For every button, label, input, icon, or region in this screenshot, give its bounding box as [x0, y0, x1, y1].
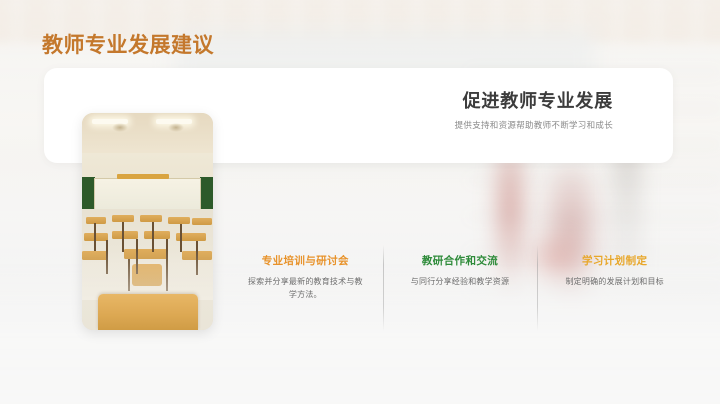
photo-ceiling-fan-1 [112, 123, 128, 132]
hero-heading: 促进教师专业发展 [463, 87, 613, 113]
feature-column-1-title: 专业培训与研讨会 [244, 253, 367, 268]
photo-foreground-desk [98, 294, 198, 330]
feature-column-2-description: 与同行分享经验和教学资源 [399, 275, 522, 288]
photo-desk [86, 217, 106, 224]
slide-canvas: 教师专业发展建议 促进教师专业发展 提供支持和资源帮助教师不断学习和成长 [0, 0, 720, 404]
photo-desk-leg [152, 222, 154, 252]
photo-desk [84, 233, 108, 241]
feature-column-3: 学习计划制定 制定明确的发展计划和目标 [537, 243, 692, 333]
photo-ceiling-fan-2 [168, 123, 184, 132]
photo-desk [192, 218, 212, 225]
photo-desk-leg [122, 222, 124, 252]
photo-whiteboard [94, 178, 201, 210]
page-title: 教师专业发展建议 [42, 29, 214, 59]
photo-desk-leg [94, 223, 96, 251]
feature-columns: 专业培训与研讨会 探索并分享最新的教育技术与教学方法。 教研合作和交流 与同行分… [228, 243, 692, 333]
feature-column-3-description: 制定明确的发展计划和目标 [553, 275, 676, 288]
photo-chalkboard-right [200, 177, 213, 210]
photo-desk [140, 215, 162, 222]
photo-desk [144, 231, 170, 239]
feature-column-3-title: 学习计划制定 [553, 253, 676, 268]
hero-subheading: 提供支持和资源帮助教师不断学习和成长 [455, 119, 613, 131]
photo-desk [112, 215, 134, 222]
photo-floor-highlight [82, 250, 213, 300]
photo-desk [168, 217, 190, 224]
photo-desk-leg [180, 224, 182, 252]
feature-column-1-description: 探索并分享最新的教育技术与教学方法。 [244, 275, 367, 301]
feature-column-2-title: 教研合作和交流 [399, 253, 522, 268]
photo-wall-banner [117, 174, 169, 179]
photo-desk [112, 231, 138, 239]
feature-column-2: 教研合作和交流 与同行分享经验和教学资源 [383, 243, 538, 333]
classroom-photo-card [82, 113, 213, 330]
feature-column-1: 专业培训与研讨会 探索并分享最新的教育技术与教学方法。 [228, 243, 383, 333]
